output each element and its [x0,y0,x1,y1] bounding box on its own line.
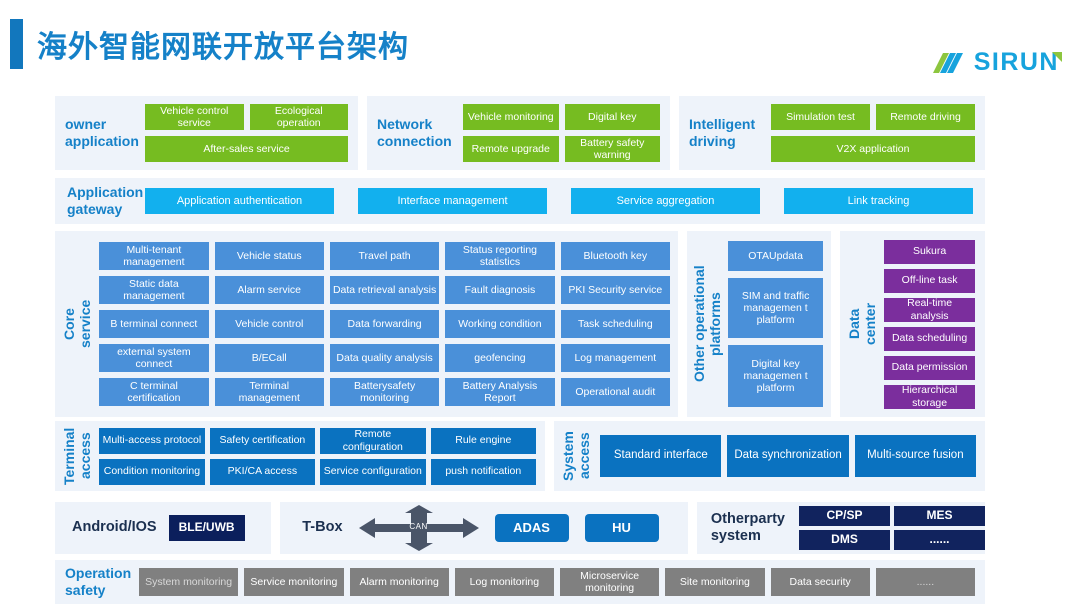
chip-b-ecall[interactable]: B/ECall [215,344,324,372]
mobile-device-panel: Android/IOS BLE/UWB [55,502,271,554]
logo-corner-accent [1052,52,1062,62]
core-service-grid: Multi-tenant management Vehicle status T… [99,242,670,406]
chip-site-monitoring[interactable]: Site monitoring [665,568,764,596]
brand-name: SIRUN [974,48,1059,77]
other-platforms-label: Other operational platforms [691,254,723,394]
operation-safety-layer: Operationsafety System monitoring Servic… [55,560,985,604]
page-title: 海外智能网联开放平台架构 [37,22,409,66]
chip-alarm-service[interactable]: Alarm service [215,276,324,304]
network-connection-panel: Networkconnection Vehicle monitoring Dig… [367,96,670,170]
chip-pki-ca-access[interactable]: PKI/CA access [210,459,315,485]
otherparty-system-label: Otherpartysystem [711,511,785,546]
chip-working-condition[interactable]: Working condition [445,310,554,338]
access-layer: Terminal access Multi-access protocol Sa… [55,421,985,491]
chip-remote-configuration[interactable]: Remote configuration [320,428,425,454]
owner-application-label: ownerapplication [65,116,137,150]
terminal-access-label-line1: Terminal [61,425,77,487]
chip-digital-key-management-platform[interactable]: Digital key managemen t platform [728,345,823,407]
chip-v2x-application[interactable]: V2X application [771,136,975,162]
chip-push-notification[interactable]: push notification [431,459,536,485]
chip-safety-certification[interactable]: Safety certification [210,428,315,454]
chip-standard-interface[interactable]: Standard interface [600,435,721,477]
owner-application-panel: ownerapplication Vehicle control service… [55,96,358,170]
chip-vehicle-monitoring[interactable]: Vehicle monitoring [463,104,559,130]
chip-cp-sp[interactable]: CP/SP [799,506,890,526]
chip-data-security[interactable]: Data security [771,568,870,596]
chip-hu[interactable]: HU [585,514,659,542]
chip-real-time-analysis[interactable]: Real-time analysis [884,298,975,322]
other-platforms-stack: OTAUpdata SIM and traffic managemen t pl… [728,241,823,407]
chip-data-forwarding[interactable]: Data forwarding [330,310,439,338]
sirun-logo-icon [933,51,967,75]
chip-battery-analysis-report[interactable]: Battery Analysis Report [445,378,554,406]
tbox-panel: T-Box CAN ADAS HU [280,502,688,554]
chip-link-tracking[interactable]: Link tracking [784,188,973,214]
chip-data-scheduling[interactable]: Data scheduling [884,327,975,351]
chip-application-authentication[interactable]: Application authentication [145,188,334,214]
core-service-label-line1: Core [61,274,77,374]
chip-ble-uwb[interactable]: BLE/UWB [169,515,245,541]
chip-multi-access-protocol[interactable]: Multi-access protocol [99,428,204,454]
chip-log-monitoring[interactable]: Log monitoring [455,568,554,596]
chip-digital-key[interactable]: Digital key [565,104,661,130]
otherparty-system-grid: CP/SP MES DMS ...... [799,506,985,550]
data-center-label-line2: center [862,279,878,369]
system-access-label-line2: access [576,428,592,484]
chip-service-aggregation[interactable]: Service aggregation [571,188,760,214]
network-connection-label: Networkconnection [377,116,455,150]
can-label: CAN [359,522,479,531]
other-platforms-label-line2: platforms [707,254,723,394]
chip-multi-tenant-management[interactable]: Multi-tenant management [99,242,208,270]
terminal-access-panel: Terminal access Multi-access protocol Sa… [55,421,545,491]
chip-data-retrieval-analysis[interactable]: Data retrieval analysis [330,276,439,304]
chip-after-sales-service[interactable]: After-sales service [145,136,348,162]
chip-vehicle-control[interactable]: Vehicle control [215,310,324,338]
chip-simulation-test[interactable]: Simulation test [771,104,870,130]
chip-data-permission[interactable]: Data permission [884,356,975,380]
page-header: 海外智能网联开放平台架构 SIRUN [0,0,1080,88]
data-center-label-line1: Data [846,279,862,369]
android-ios-label: Android/IOS [72,519,157,536]
chip-multi-source-fusion[interactable]: Multi-source fusion [855,435,976,477]
chip-dms[interactable]: DMS [799,530,890,550]
chip-service-configuration[interactable]: Service configuration [320,459,425,485]
application-layer: ownerapplication Vehicle control service… [55,96,985,170]
operation-safety-label: Operationsafety [65,565,139,599]
chip-travel-path[interactable]: Travel path [330,242,439,270]
chip-pki-security-service[interactable]: PKI Security service [561,276,670,304]
operation-safety-chip-list: System monitoring Service monitoring Ala… [139,568,975,596]
chip-ops-ellipsis[interactable]: ...... [876,568,975,596]
gateway-chip-list: Application authentication Interface man… [145,188,973,214]
chip-microservice-monitoring[interactable]: Microservice monitoring [560,568,659,596]
data-center-stack: Sukura Off-line task Real-time analysis … [884,240,975,409]
terminal-access-grid: Multi-access protocol Safety certificati… [99,428,536,485]
chip-service-monitoring[interactable]: Service monitoring [244,568,343,596]
intelligent-driving-label: Intelligentdriving [689,116,763,150]
chip-batterysafety-monitoring[interactable]: Batterysafety monitoring [330,378,439,406]
chip-alarm-monitoring[interactable]: Alarm monitoring [350,568,449,596]
chip-remote-driving[interactable]: Remote driving [876,104,975,130]
otherparty-system-panel: Otherpartysystem CP/SP MES DMS ...... [697,502,985,554]
tbox-label: T-Box [302,519,342,536]
chip-data-quality-analysis[interactable]: Data quality analysis [330,344,439,372]
chip-static-data-management[interactable]: Static data management [99,276,208,304]
core-layer: Core service Multi-tenant management Veh… [55,231,985,417]
chip-c-terminal-certification[interactable]: C terminal certification [99,378,208,406]
chip-battery-safety-warning[interactable]: Battery safety warning [565,136,661,162]
system-access-chip-list: Standard interface Data synchronization … [600,435,976,477]
chip-remote-upgrade[interactable]: Remote upgrade [463,136,559,162]
core-service-label: Core service [61,274,93,374]
chip-rule-engine[interactable]: Rule engine [431,428,536,454]
core-service-label-line2: service [77,274,93,374]
chip-off-line-task[interactable]: Off-line task [884,269,975,293]
brand-logo: SIRUN [933,48,1062,77]
chip-operational-audit[interactable]: Operational audit [561,378,670,406]
terminal-access-label: Terminal access [61,425,93,487]
chip-b-terminal-connect[interactable]: B terminal connect [99,310,208,338]
chip-hierarchical-storage[interactable]: Hierarchical storage [884,385,975,409]
chip-ota-update[interactable]: OTAUpdata [728,241,823,271]
chip-external-system-connect[interactable]: external system connect [99,344,208,372]
chip-status-reporting-statistics[interactable]: Status reporting statistics [445,242,554,270]
chip-terminal-management[interactable]: Terminal management [215,378,324,406]
chip-log-management[interactable]: Log management [561,344,670,372]
system-access-panel: System access Standard interface Data sy… [554,421,985,491]
chip-ecological-operation[interactable]: Ecological operation [250,104,349,130]
chip-adas[interactable]: ADAS [495,514,569,542]
terminal-access-label-line2: access [77,425,93,487]
chip-vehicle-control-service[interactable]: Vehicle control service [145,104,244,130]
application-gateway-layer: Applicationgateway Application authentic… [55,178,985,224]
chip-bluetooth-key[interactable]: Bluetooth key [561,242,670,270]
chip-fault-diagnosis[interactable]: Fault diagnosis [445,276,554,304]
title-accent-bar [10,19,23,69]
chip-system-monitoring[interactable]: System monitoring [139,568,238,596]
chip-condition-monitoring[interactable]: Condition monitoring [99,459,204,485]
chip-interface-management[interactable]: Interface management [358,188,547,214]
can-bus-arrow: CAN [359,505,479,551]
chip-otherparty-ellipsis[interactable]: ...... [894,530,985,550]
chip-task-scheduling[interactable]: Task scheduling [561,310,670,338]
data-center-label: Data center [846,279,878,369]
other-platforms-label-line1: Other operational [691,254,707,394]
other-operational-platforms-panel: Other operational platforms OTAUpdata SI… [687,231,831,417]
core-service-panel: Core service Multi-tenant management Veh… [55,231,678,417]
chip-vehicle-status[interactable]: Vehicle status [215,242,324,270]
intelligent-driving-panel: Intelligentdriving Simulation test Remot… [679,96,985,170]
data-center-panel: Data center Sukura Off-line task Real-ti… [840,231,985,417]
chip-mes[interactable]: MES [894,506,985,526]
chip-sim-traffic-management-platform[interactable]: SIM and traffic managemen t platform [728,278,823,338]
application-gateway-label: Applicationgateway [67,184,145,218]
chip-geofencing[interactable]: geofencing [445,344,554,372]
chip-data-synchronization[interactable]: Data synchronization [727,435,848,477]
system-access-label-line1: System [560,428,576,484]
device-layer: Android/IOS BLE/UWB T-Box CAN ADAS HU Ot… [55,502,985,554]
system-access-label: System access [560,428,592,484]
chip-sukura[interactable]: Sukura [884,240,975,264]
